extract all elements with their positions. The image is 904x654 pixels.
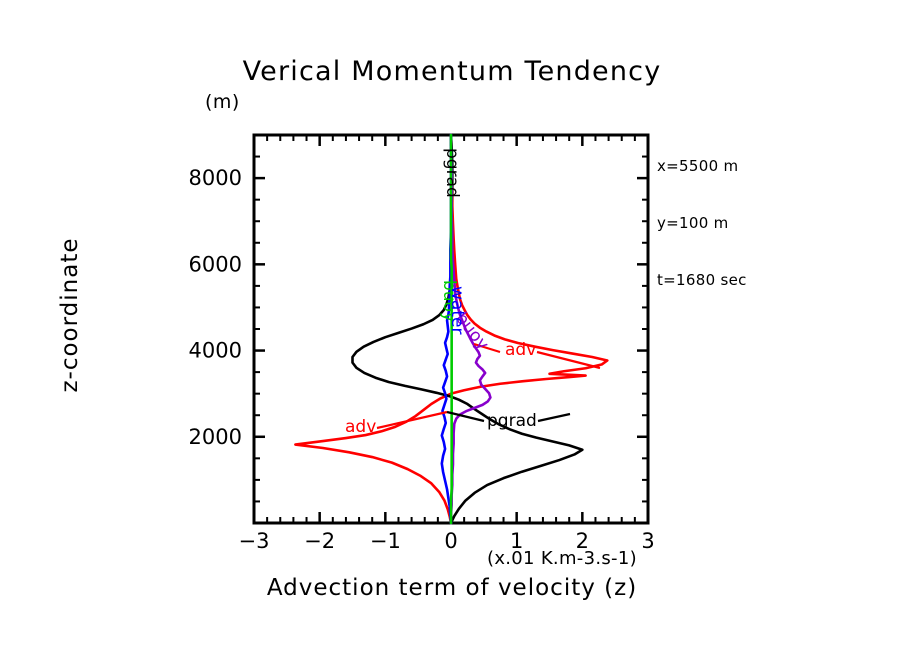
chart-svg: −3−2−101232000400060008000 advadvpgradpg…: [0, 0, 904, 654]
y-tick-label: 6000: [189, 252, 242, 276]
pgrad-label-lower: pgrad: [487, 411, 537, 431]
x-tick-label: −3: [239, 529, 270, 553]
x-tick-label: −2: [304, 529, 335, 553]
adv-label-left: adv: [345, 417, 376, 437]
axis-tick-labels: −3−2−101232000400060008000: [189, 166, 655, 553]
y-tick-label: 4000: [189, 339, 242, 363]
y-tick-label: 8000: [189, 166, 242, 190]
y-tick-label: 2000: [189, 425, 242, 449]
plot-canvas: Verical Momentum Tendency (m) x=5500 m y…: [0, 0, 904, 654]
pgrad-lower-leader2: [538, 414, 570, 421]
pgrad-label-upper: pgrad: [442, 148, 462, 198]
x-tick-label: 3: [641, 529, 654, 553]
x-tick-label: −1: [370, 529, 401, 553]
adv-label-right: adv: [505, 340, 536, 360]
x-tick-label: 1: [510, 529, 523, 553]
water-label-blue: water: [447, 286, 467, 334]
x-tick-label: 2: [576, 529, 589, 553]
adv-right-leader2: [537, 352, 600, 368]
adv-left-leader: [377, 412, 447, 428]
x-tick-label: 0: [444, 529, 457, 553]
